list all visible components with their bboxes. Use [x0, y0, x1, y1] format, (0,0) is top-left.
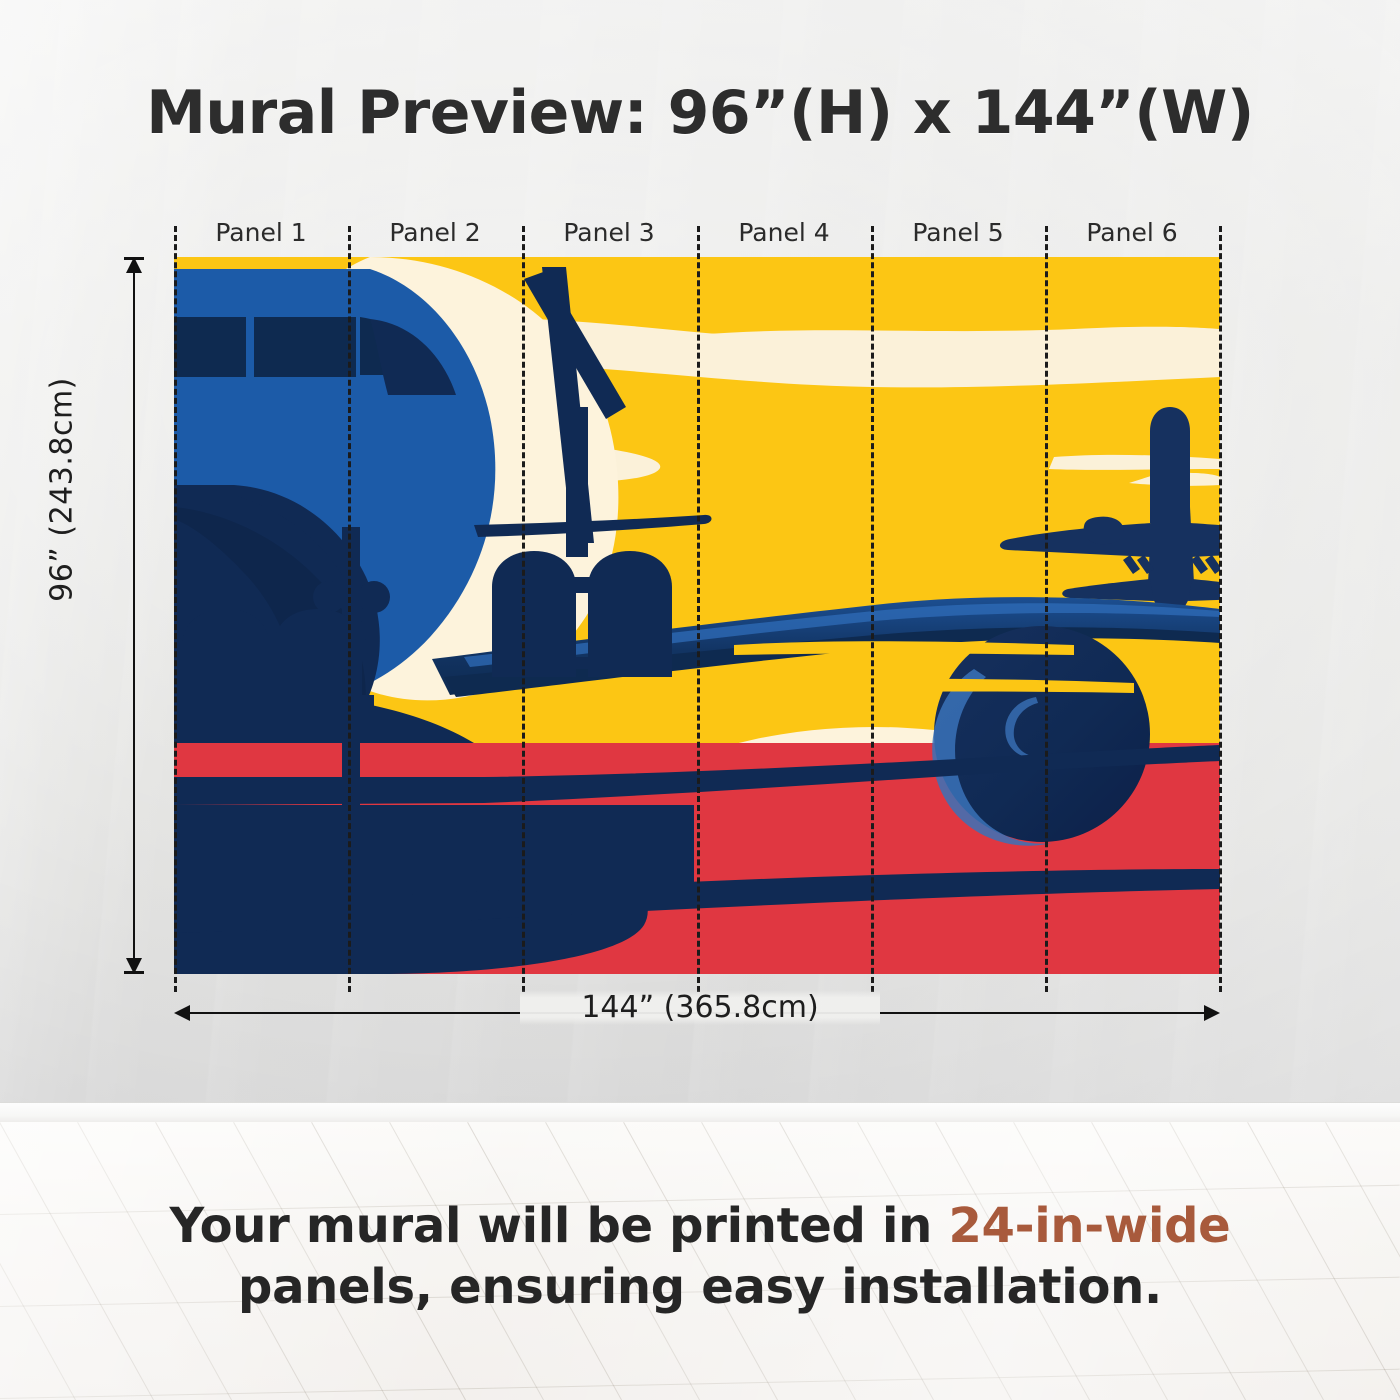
- panel-label-3: Panel 3: [522, 218, 696, 247]
- page-title: Mural Preview: 96”(H) x 144”(W): [0, 78, 1400, 148]
- panel-divider-3: [697, 226, 700, 992]
- baseboard: [0, 1102, 1400, 1124]
- panel-divider-left-edge: [174, 226, 177, 992]
- height-dimension-arrow: [126, 257, 142, 974]
- panel-divider-5: [1045, 226, 1048, 992]
- height-dimension-line: [133, 269, 135, 962]
- panel-label-2: Panel 2: [348, 218, 522, 247]
- panel-divider-right-edge: [1219, 226, 1222, 992]
- panel-label-5: Panel 5: [871, 218, 1045, 247]
- arrowhead-right-icon: [1204, 1005, 1220, 1021]
- panel-label-1: Panel 1: [174, 218, 348, 247]
- height-label: 96” (243.8cm): [45, 350, 80, 630]
- width-label: 144” (365.8cm): [520, 990, 880, 1025]
- footer-caption-line1-pre: Your mural will be printed in: [170, 1198, 949, 1254]
- footer-caption-accent: 24-in-wide: [948, 1198, 1230, 1254]
- footer-caption-line2: panels, ensuring easy installation.: [0, 1257, 1400, 1318]
- panel-divider-2: [522, 226, 525, 992]
- panel-divider-4: [871, 226, 874, 992]
- panel-label-4: Panel 4: [697, 218, 871, 247]
- arrowhead-down-icon: [126, 958, 142, 974]
- footer-caption-line1: Your mural will be printed in 24-in-wide: [0, 1196, 1400, 1257]
- footer-caption: Your mural will be printed in 24-in-wide…: [0, 1196, 1400, 1319]
- panel-label-6: Panel 6: [1045, 218, 1219, 247]
- room-scene: Mural Preview: 96”(H) x 144”(W): [0, 0, 1400, 1400]
- panel-divider-1: [348, 226, 351, 992]
